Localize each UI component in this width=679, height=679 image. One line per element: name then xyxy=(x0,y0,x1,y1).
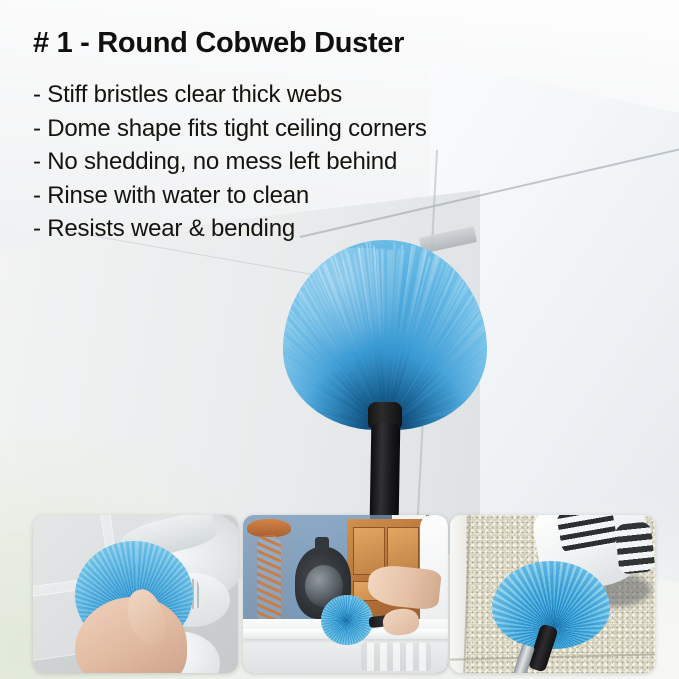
t3-fixture-vent-right xyxy=(614,521,655,574)
t2-lantern-finial xyxy=(315,537,329,553)
product-infographic: # 1 - Round Cobweb Duster - Stiff bristl… xyxy=(0,0,679,679)
t2-mantel-moulding xyxy=(361,643,431,671)
thumbnail-mantel[interactable] xyxy=(243,515,448,673)
thumbnail-stucco-ceiling[interactable] xyxy=(450,515,655,673)
thumbnail-strip xyxy=(0,513,679,679)
feature-item-2: - Dome shape fits tight ceiling corners xyxy=(33,112,593,146)
feature-list: - Stiff bristles clear thick webs - Dome… xyxy=(33,78,593,246)
main-product-duster xyxy=(283,240,487,530)
duster-grip-handle xyxy=(370,423,401,521)
feature-item-3: - No shedding, no mess left behind xyxy=(33,145,593,179)
feature-item-4: - Rinse with water to clean xyxy=(33,179,593,213)
thumbnail-ceiling-fan[interactable] xyxy=(33,515,238,673)
t2-candle-stem xyxy=(257,535,281,629)
t2-duster-bristle-texture xyxy=(321,595,373,645)
feature-item-1: - Stiff bristles clear thick webs xyxy=(33,78,593,112)
page-title: # 1 - Round Cobweb Duster xyxy=(33,27,404,60)
